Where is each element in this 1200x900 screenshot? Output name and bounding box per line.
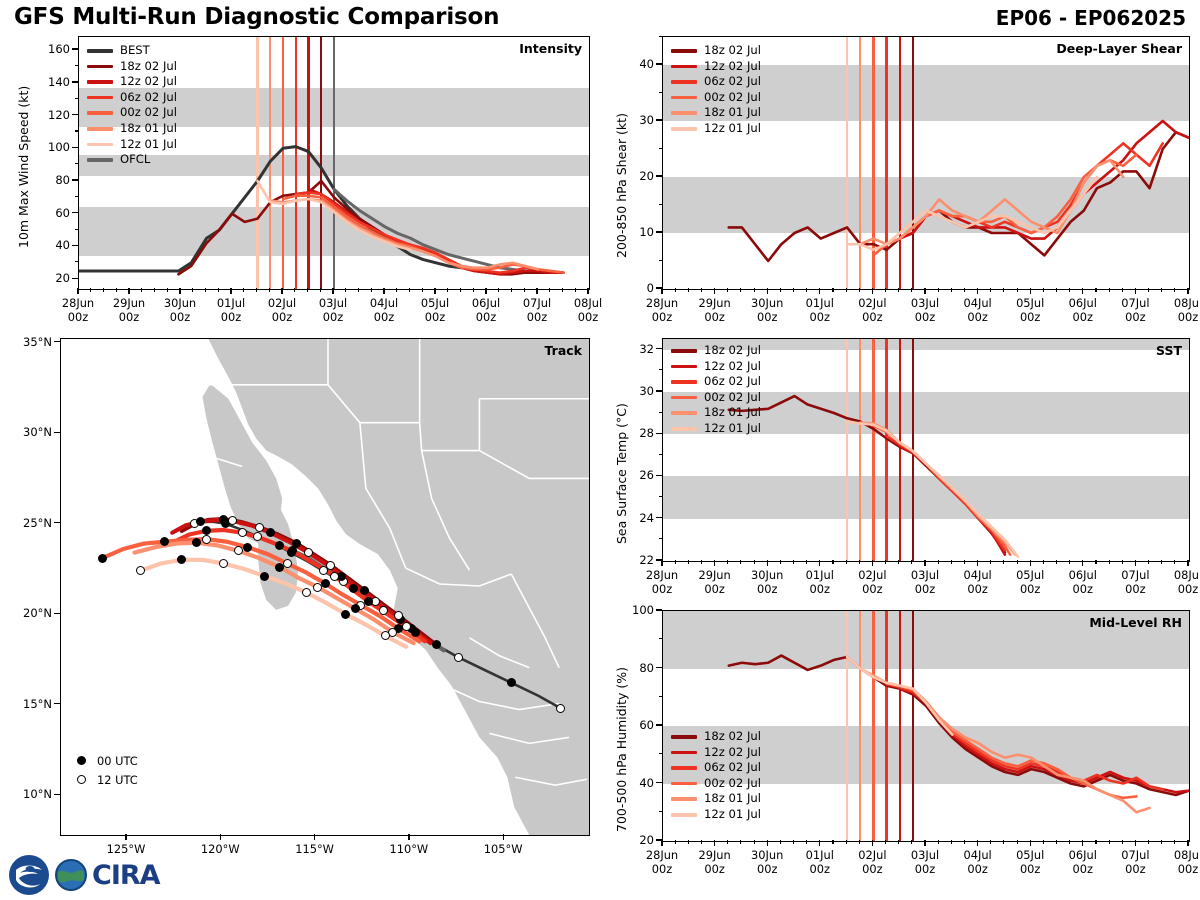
plot-area-intensity: Intensity BEST18z 02 Jul12z 02 Jul06z 02… bbox=[78, 36, 590, 290]
track-marker-00utc bbox=[341, 610, 350, 619]
x-minor-tick bbox=[911, 560, 912, 564]
track-marker-00utc bbox=[351, 604, 360, 613]
x-tick-mark-track bbox=[314, 834, 315, 840]
noaa-logo-icon bbox=[8, 854, 50, 896]
x-tick-hour: 00z bbox=[323, 310, 343, 324]
y-minor-tick bbox=[75, 130, 79, 131]
legend-shear-row: 12z 02 Jul bbox=[671, 59, 761, 75]
y-tick-label: 24 bbox=[639, 511, 654, 525]
x-tick-date: 01Jul bbox=[217, 296, 245, 310]
x-tick-hour: 00z bbox=[862, 582, 882, 596]
x-tick-label: 29Jun00z bbox=[113, 297, 145, 325]
x-minor-tick bbox=[832, 288, 833, 292]
x-tick-label: 06Jul00z bbox=[472, 297, 500, 325]
x-tick-hour: 00z bbox=[915, 310, 935, 324]
legend-swatch bbox=[671, 96, 697, 100]
x-minor-tick bbox=[898, 288, 899, 292]
x-tick-label: 08Jul00z bbox=[1174, 297, 1200, 325]
x-tick-hour: 00z bbox=[1125, 582, 1145, 596]
x-minor-tick bbox=[911, 840, 912, 844]
x-minor-tick bbox=[307, 288, 308, 292]
x-minor-tick bbox=[990, 288, 991, 292]
x-minor-tick bbox=[832, 840, 833, 844]
panel-title-rh: Mid-Level RH bbox=[1089, 615, 1182, 630]
legend-rh-row: 12z 01 Jul bbox=[671, 807, 761, 823]
x-tick-mark bbox=[434, 288, 435, 294]
track-marker-12utc bbox=[302, 588, 311, 597]
y-tick-label-track: 30°N bbox=[23, 425, 52, 439]
x-tick-mark bbox=[1135, 560, 1136, 566]
x-tick-mark bbox=[77, 288, 78, 294]
x-minor-tick bbox=[951, 840, 952, 844]
series-line bbox=[900, 121, 1189, 239]
plot-area-sst: SST 18z 02 Jul12z 02 Jul06z 02 Jul00z 02… bbox=[662, 338, 1190, 562]
x-minor-tick bbox=[205, 288, 206, 292]
x-tick-mark bbox=[179, 288, 180, 294]
x-tick-mark bbox=[281, 288, 282, 294]
utc-legend-row: 12 UTC bbox=[73, 770, 138, 789]
y-tick-mark bbox=[656, 609, 662, 610]
page-title: GFS Multi-Run Diagnostic Comparison bbox=[14, 4, 499, 30]
plot-area-rh: Mid-Level RH 18z 02 Jul12z 02 Jul06z 02 … bbox=[662, 610, 1190, 842]
x-tick-label: 28Jun00z bbox=[646, 849, 678, 877]
y-minor-tick bbox=[75, 229, 79, 230]
x-tick-hour: 00z bbox=[967, 310, 987, 324]
x-minor-tick bbox=[167, 288, 168, 292]
x-tick-label: 08Jul00z bbox=[1174, 569, 1200, 597]
legend-label: 18z 02 Jul bbox=[120, 61, 177, 73]
x-minor-tick bbox=[562, 288, 563, 292]
x-minor-tick bbox=[832, 560, 833, 564]
panel-title-shear: Deep-Layer Shear bbox=[1056, 41, 1182, 56]
x-minor-tick bbox=[498, 288, 499, 292]
x-minor-tick bbox=[396, 288, 397, 292]
x-minor-tick bbox=[1056, 560, 1057, 564]
y-tick-label: 0 bbox=[647, 281, 654, 295]
x-tick-hour: 00z bbox=[1178, 310, 1198, 324]
y-tick-label-track: 15°N bbox=[23, 697, 52, 711]
x-minor-tick bbox=[1148, 560, 1149, 564]
x-tick-mark bbox=[1135, 840, 1136, 846]
legend-swatch bbox=[87, 143, 113, 147]
x-tick-hour: 00z bbox=[704, 862, 724, 876]
x-minor-tick bbox=[938, 840, 939, 844]
legend-rh: 18z 02 Jul12z 02 Jul06z 02 Jul00z 02 Jul… bbox=[671, 729, 761, 823]
y-tick-mark bbox=[72, 48, 78, 49]
y-tick-label: 40 bbox=[55, 238, 70, 252]
x-tick-date: 01Jul bbox=[806, 568, 834, 582]
y-tick-mark-track bbox=[54, 794, 60, 795]
x-minor-tick bbox=[859, 840, 860, 844]
x-minor-tick bbox=[1056, 288, 1057, 292]
x-minor-tick bbox=[806, 288, 807, 292]
y-tick-mark bbox=[656, 231, 662, 232]
x-minor-tick bbox=[1161, 560, 1162, 564]
y-minor-tick bbox=[659, 454, 663, 455]
legend-swatch bbox=[671, 751, 697, 755]
y-tick-mark bbox=[72, 245, 78, 246]
x-tick-label: 04Jul00z bbox=[963, 569, 991, 597]
y-minor-tick bbox=[659, 753, 663, 754]
x-tick-label: 07Jul00z bbox=[1121, 849, 1149, 877]
x-minor-tick bbox=[1161, 288, 1162, 292]
legend-intensity-row: 18z 02 Jul bbox=[87, 59, 177, 75]
legend-label: 12z 01 Jul bbox=[704, 809, 761, 821]
x-tick-hour: 00z bbox=[374, 310, 394, 324]
y-minor-tick bbox=[75, 65, 79, 66]
x-tick-date: 06Jul bbox=[1069, 848, 1097, 862]
x-tick-hour: 00z bbox=[221, 310, 241, 324]
y-tick-label: 140 bbox=[48, 75, 70, 89]
track-marker-12utc bbox=[313, 583, 322, 592]
y-minor-tick bbox=[659, 538, 663, 539]
y-tick-label: 60 bbox=[639, 718, 654, 732]
cira-wordmark: CIRA bbox=[92, 860, 160, 891]
legend-swatch bbox=[671, 411, 697, 415]
x-tick-date: 03Jul bbox=[911, 296, 939, 310]
legend-label: 12z 02 Jul bbox=[120, 76, 177, 88]
x-tick-hour: 00z bbox=[967, 582, 987, 596]
y-tick-label: 40 bbox=[639, 776, 654, 790]
x-tick-mark bbox=[767, 560, 768, 566]
x-tick-hour: 00z bbox=[527, 310, 547, 324]
legend-swatch bbox=[671, 427, 697, 431]
y-tick-label: 20 bbox=[639, 833, 654, 847]
x-tick-mark bbox=[661, 560, 662, 566]
y-minor-tick bbox=[659, 369, 663, 370]
series-line bbox=[729, 396, 1005, 552]
x-minor-tick bbox=[701, 288, 702, 292]
x-minor-tick bbox=[218, 288, 219, 292]
y-tick-mark bbox=[72, 179, 78, 180]
x-tick-hour: 00z bbox=[915, 582, 935, 596]
x-tick-date: 04Jul bbox=[963, 848, 991, 862]
y-minor-tick bbox=[75, 98, 79, 99]
track-marker-12utc bbox=[283, 559, 292, 568]
y-tick-mark-track bbox=[54, 703, 60, 704]
legend-swatch bbox=[671, 380, 697, 384]
x-tick-hour: 00z bbox=[119, 310, 139, 324]
figure-root: GFS Multi-Run Diagnostic Comparison EP06… bbox=[0, 0, 1200, 900]
x-tick-label: 02Jul00z bbox=[858, 297, 886, 325]
x-tick-date: 05Jul bbox=[421, 296, 449, 310]
x-tick-mark bbox=[230, 288, 231, 294]
x-tick-mark bbox=[1187, 288, 1188, 294]
y-minor-tick bbox=[75, 163, 79, 164]
y-tick-mark-track bbox=[54, 341, 60, 342]
x-minor-tick bbox=[885, 840, 886, 844]
x-minor-tick bbox=[754, 560, 755, 564]
track-marker-12utc bbox=[202, 535, 211, 544]
y-tick-mark bbox=[656, 119, 662, 120]
x-minor-tick bbox=[688, 560, 689, 564]
x-minor-tick bbox=[192, 288, 193, 292]
x-tick-date: 08Jul bbox=[574, 296, 602, 310]
y-tick-label: 20 bbox=[639, 169, 654, 183]
legend-swatch bbox=[671, 349, 697, 353]
x-minor-tick bbox=[345, 288, 346, 292]
y-tick-mark bbox=[72, 212, 78, 213]
legend-swatch bbox=[87, 49, 113, 53]
x-tick-hour: 00z bbox=[757, 310, 777, 324]
y-axis-label-rh: 700-500 hPa Humidity (%) bbox=[614, 667, 629, 832]
x-minor-tick bbox=[780, 560, 781, 564]
x-tick-date: 29Jun bbox=[698, 848, 730, 862]
x-minor-tick bbox=[688, 840, 689, 844]
y-minor-tick bbox=[659, 696, 663, 697]
x-tick-mark-track bbox=[125, 834, 126, 840]
x-minor-tick bbox=[1017, 840, 1018, 844]
x-minor-tick bbox=[793, 560, 794, 564]
x-tick-hour: 00z bbox=[1073, 310, 1093, 324]
x-tick-mark bbox=[872, 560, 873, 566]
x-minor-tick bbox=[1109, 840, 1110, 844]
x-minor-tick bbox=[511, 288, 512, 292]
y-tick-label: 100 bbox=[632, 603, 654, 617]
x-minor-tick bbox=[846, 560, 847, 564]
legend-sst: 18z 02 Jul12z 02 Jul06z 02 Jul00z 02 Jul… bbox=[671, 343, 761, 437]
legend-intensity-row: 06z 02 Jul bbox=[87, 90, 177, 106]
x-tick-date: 02Jul bbox=[858, 848, 886, 862]
x-tick-label: 30Jun00z bbox=[164, 297, 196, 325]
x-tick-date: 06Jul bbox=[1069, 568, 1097, 582]
x-minor-tick bbox=[740, 840, 741, 844]
series-line bbox=[900, 689, 1189, 793]
legend-shear-row: 18z 01 Jul bbox=[671, 105, 761, 121]
x-tick-date: 05Jul bbox=[1016, 296, 1044, 310]
x-minor-tick bbox=[1174, 288, 1175, 292]
x-minor-tick bbox=[358, 288, 359, 292]
x-tick-label: 06Jul00z bbox=[1069, 569, 1097, 597]
x-tick-hour: 00z bbox=[810, 310, 830, 324]
legend-shear-row: 06z 02 Jul bbox=[671, 74, 761, 90]
x-tick-date: 08Jul bbox=[1174, 296, 1200, 310]
x-tick-date: 05Jul bbox=[1016, 848, 1044, 862]
x-minor-tick bbox=[990, 560, 991, 564]
x-tick-mark bbox=[661, 840, 662, 846]
plot-area-track: Track 00 UTC12 UTC bbox=[60, 338, 590, 836]
x-tick-label-track: 120°W bbox=[201, 843, 240, 857]
x-minor-tick bbox=[460, 288, 461, 292]
track-marker-12utc bbox=[238, 528, 247, 537]
x-tick-hour: 00z bbox=[1020, 310, 1040, 324]
x-minor-tick bbox=[294, 288, 295, 292]
x-tick-date: 08Jul bbox=[1174, 848, 1200, 862]
x-minor-tick bbox=[243, 288, 244, 292]
x-tick-date: 05Jul bbox=[1016, 568, 1044, 582]
legend-swatch bbox=[671, 813, 697, 817]
x-minor-tick bbox=[846, 288, 847, 292]
x-minor-tick bbox=[1043, 288, 1044, 292]
x-tick-label: 07Jul00z bbox=[1121, 569, 1149, 597]
legend-intensity-row: 00z 02 Jul bbox=[87, 105, 177, 121]
x-minor-tick bbox=[371, 288, 372, 292]
y-minor-tick bbox=[75, 196, 79, 197]
y-tick-mark bbox=[656, 724, 662, 725]
utc-marker-legend: 00 UTC12 UTC bbox=[73, 751, 138, 789]
legend-swatch bbox=[87, 158, 113, 162]
track-marker-12utc bbox=[304, 548, 313, 557]
x-tick-mark bbox=[128, 288, 129, 294]
x-tick-hour: 00z bbox=[915, 862, 935, 876]
y-tick-mark bbox=[72, 81, 78, 82]
track-marker-00utc bbox=[266, 528, 275, 537]
x-tick-date: 29Jun bbox=[113, 296, 145, 310]
x-tick-label: 05Jul00z bbox=[1016, 569, 1044, 597]
x-tick-hour: 00z bbox=[578, 310, 598, 324]
x-minor-tick bbox=[1109, 288, 1110, 292]
x-minor-tick bbox=[885, 288, 886, 292]
legend-swatch bbox=[87, 80, 113, 84]
x-minor-tick bbox=[793, 288, 794, 292]
legend-swatch bbox=[87, 127, 113, 131]
x-tick-hour: 00z bbox=[704, 310, 724, 324]
track-marker-00utc bbox=[243, 543, 252, 552]
x-tick-hour: 00z bbox=[810, 862, 830, 876]
y-minor-tick bbox=[659, 36, 663, 37]
legend-intensity: BEST18z 02 Jul12z 02 Jul06z 02 Jul00z 02… bbox=[87, 43, 177, 168]
y-tick-label: 40 bbox=[639, 57, 654, 71]
series-line bbox=[729, 656, 1189, 795]
x-tick-label: 02Jul00z bbox=[858, 849, 886, 877]
x-tick-mark-track bbox=[503, 834, 504, 840]
x-tick-hour: 00z bbox=[1073, 862, 1093, 876]
plot-area-shear: Deep-Layer Shear 18z 02 Jul12z 02 Jul06z… bbox=[662, 36, 1190, 290]
x-tick-label: 08Jul00z bbox=[1174, 849, 1200, 877]
x-tick-mark bbox=[383, 288, 384, 294]
track-marker-12utc bbox=[330, 572, 339, 581]
x-tick-hour: 00z bbox=[757, 582, 777, 596]
x-tick-mark bbox=[714, 288, 715, 294]
legend-shear-row: 18z 02 Jul bbox=[671, 43, 761, 59]
x-minor-tick bbox=[740, 560, 741, 564]
legend-swatch bbox=[671, 80, 697, 84]
y-minor-tick bbox=[75, 261, 79, 262]
x-tick-mark bbox=[1030, 288, 1031, 294]
series-line bbox=[873, 155, 1136, 256]
x-tick-hour: 00z bbox=[652, 862, 672, 876]
y-tick-label-track: 25°N bbox=[23, 516, 52, 530]
x-tick-label: 28Jun00z bbox=[62, 297, 94, 325]
x-tick-label: 05Jul00z bbox=[1016, 849, 1044, 877]
x-minor-tick bbox=[1056, 840, 1057, 844]
x-tick-mark-track bbox=[220, 834, 221, 840]
x-minor-tick bbox=[524, 288, 525, 292]
x-minor-tick bbox=[898, 840, 899, 844]
x-tick-mark bbox=[872, 288, 873, 294]
x-tick-label-track: 115°W bbox=[295, 843, 334, 857]
x-tick-label: 29Jun00z bbox=[698, 569, 730, 597]
y-tick-mark bbox=[656, 433, 662, 434]
legend-label: 12z 02 Jul bbox=[704, 61, 761, 73]
legend-label: 18z 02 Jul bbox=[704, 731, 761, 743]
legend-shear-row: 00z 02 Jul bbox=[671, 90, 761, 106]
x-minor-tick bbox=[806, 840, 807, 844]
x-minor-tick bbox=[701, 560, 702, 564]
x-minor-tick bbox=[1003, 840, 1004, 844]
legend-label: 12z 02 Jul bbox=[704, 361, 761, 373]
x-tick-label: 01Jul00z bbox=[806, 569, 834, 597]
track-marker-12utc bbox=[556, 704, 565, 713]
x-tick-mark bbox=[924, 560, 925, 566]
x-tick-label: 03Jul00z bbox=[319, 297, 347, 325]
x-tick-mark bbox=[1030, 560, 1031, 566]
x-tick-mark bbox=[977, 560, 978, 566]
y-tick-label: 32 bbox=[639, 342, 654, 356]
x-minor-tick bbox=[575, 288, 576, 292]
x-minor-tick bbox=[1122, 840, 1123, 844]
x-minor-tick bbox=[675, 560, 676, 564]
legend-label: 18z 02 Jul bbox=[704, 345, 761, 357]
legend-swatch bbox=[87, 111, 113, 115]
x-minor-tick bbox=[1095, 560, 1096, 564]
x-tick-mark bbox=[1187, 560, 1188, 566]
x-tick-hour: 00z bbox=[652, 582, 672, 596]
y-tick-label-track: 35°N bbox=[23, 335, 52, 349]
x-tick-mark-track bbox=[408, 834, 409, 840]
y-tick-label: 30 bbox=[639, 384, 654, 398]
legend-label: 00z 02 Jul bbox=[120, 107, 177, 119]
track-marker-12utc bbox=[234, 546, 243, 555]
y-minor-tick bbox=[659, 260, 663, 261]
x-tick-hour: 00z bbox=[862, 862, 882, 876]
y-tick-mark bbox=[656, 348, 662, 349]
y-tick-label: 20 bbox=[55, 271, 70, 285]
legend-swatch bbox=[671, 65, 697, 69]
x-minor-tick bbox=[269, 288, 270, 292]
x-tick-date: 02Jul bbox=[268, 296, 296, 310]
x-tick-hour: 00z bbox=[1178, 582, 1198, 596]
legend-label: 00z 02 Jul bbox=[704, 778, 761, 790]
x-minor-tick bbox=[727, 560, 728, 564]
x-tick-label: 30Jun00z bbox=[751, 297, 783, 325]
y-tick-mark-track bbox=[54, 432, 60, 433]
y-minor-tick bbox=[659, 204, 663, 205]
x-tick-date: 28Jun bbox=[646, 296, 678, 310]
x-tick-date: 28Jun bbox=[646, 568, 678, 582]
x-minor-tick bbox=[951, 288, 952, 292]
track-marker-12utc bbox=[255, 523, 264, 532]
x-minor-tick bbox=[780, 840, 781, 844]
y-tick-label-track: 20°N bbox=[23, 606, 52, 620]
legend-label: 18z 01 Jul bbox=[704, 793, 761, 805]
legend-label: 06z 02 Jul bbox=[704, 762, 761, 774]
x-tick-date: 01Jul bbox=[806, 848, 834, 862]
x-tick-hour: 00z bbox=[1020, 862, 1040, 876]
x-minor-tick bbox=[859, 288, 860, 292]
x-minor-tick bbox=[793, 840, 794, 844]
panel-sst: SST 18z 02 Jul12z 02 Jul06z 02 Jul00z 02… bbox=[600, 332, 1200, 602]
y-tick-label: 10 bbox=[639, 225, 654, 239]
y-minor-tick bbox=[659, 496, 663, 497]
series-line bbox=[887, 436, 1005, 550]
x-tick-date: 30Jun bbox=[751, 848, 783, 862]
x-tick-mark bbox=[332, 288, 333, 294]
x-minor-tick bbox=[473, 288, 474, 292]
y-minor-tick bbox=[659, 811, 663, 812]
x-tick-mark bbox=[1082, 840, 1083, 846]
y-tick-label: 60 bbox=[55, 206, 70, 220]
legend-intensity-row: BEST bbox=[87, 43, 177, 59]
x-minor-tick bbox=[422, 288, 423, 292]
x-tick-hour: 00z bbox=[68, 310, 88, 324]
x-tick-label-track: 110°W bbox=[389, 843, 428, 857]
series-line bbox=[729, 132, 1189, 261]
y-tick-mark bbox=[656, 175, 662, 176]
x-minor-tick bbox=[898, 560, 899, 564]
x-minor-tick bbox=[964, 288, 965, 292]
series-line bbox=[887, 684, 1163, 789]
